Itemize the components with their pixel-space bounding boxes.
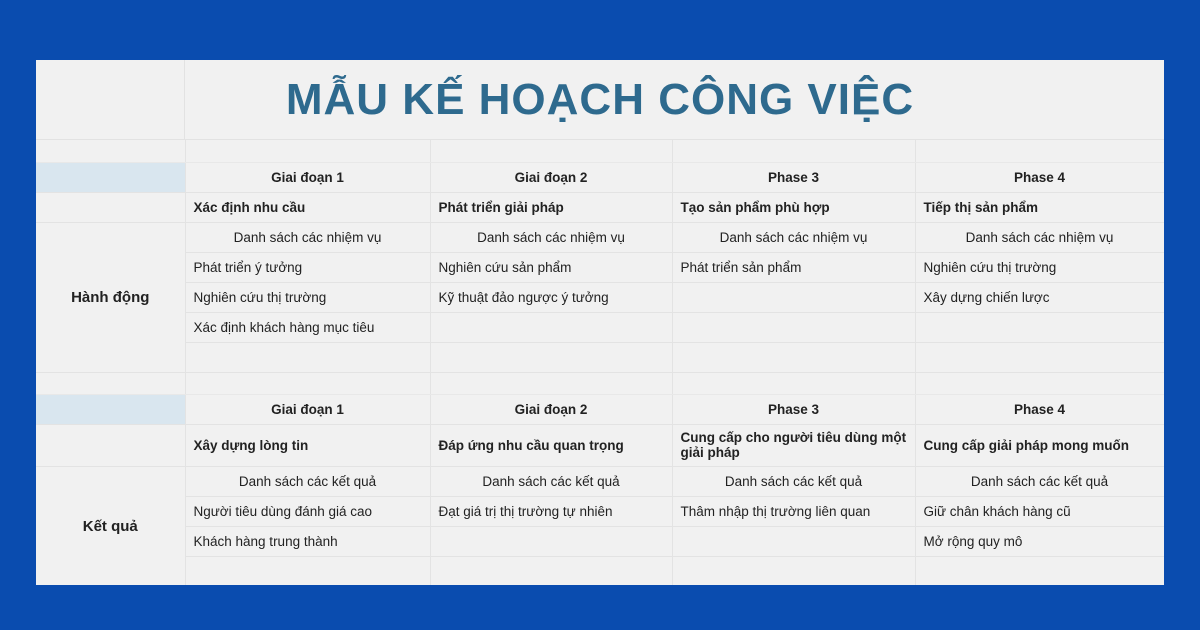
phase-header-corner: [36, 394, 185, 424]
task-cell[interactable]: Kỹ thuật đảo ngược ý tưởng: [430, 282, 672, 312]
phase-header-1: Giai đoạn 1: [185, 394, 430, 424]
task-cell[interactable]: Nghiên cứu thị trường: [915, 252, 1164, 282]
result-cell[interactable]: Giữ chân khách hàng cũ: [915, 496, 1164, 526]
list-header-3: Danh sách các nhiệm vụ: [672, 222, 915, 252]
result-cell[interactable]: [672, 526, 915, 556]
phase-header-1: Giai đoạn 1: [185, 162, 430, 192]
table-row: Phát triển ý tưởng Nghiên cứu sản phẩm P…: [36, 252, 1164, 282]
table-row: Khách hàng trung thành Mở rộng quy mô: [36, 526, 1164, 556]
list-header-2: Danh sách các kết quả: [430, 466, 672, 496]
result-cell[interactable]: Người tiêu dùng đánh giá cao: [185, 496, 430, 526]
spacer-cell: [430, 372, 672, 394]
phase-goal-1: Xây dựng lòng tin: [185, 424, 430, 466]
list-header-3: Danh sách các kết quả: [672, 466, 915, 496]
section-gap-row: [36, 372, 1164, 394]
task-cell[interactable]: [672, 282, 915, 312]
phase-header-corner: [36, 162, 185, 192]
list-header-4: Danh sách các nhiệm vụ: [915, 222, 1164, 252]
phase-header-3: Phase 3: [672, 162, 915, 192]
list-header-4: Danh sách các kết quả: [915, 466, 1164, 496]
task-cell[interactable]: Phát triển ý tưởng: [185, 252, 430, 282]
phase-header-row: Giai đoạn 1 Giai đoạn 2 Phase 3 Phase 4: [36, 394, 1164, 424]
table-row: [36, 342, 1164, 372]
result-cell[interactable]: Mở rộng quy mô: [915, 526, 1164, 556]
result-cell[interactable]: Đạt giá trị thị trường tự nhiên: [430, 496, 672, 526]
title-lead-column: [36, 60, 185, 140]
phase-goal-2: Đáp ứng nhu cầu quan trọng: [430, 424, 672, 466]
phase-goal-row: Xác định nhu cầu Phát triển giải pháp Tạ…: [36, 192, 1164, 222]
task-cell[interactable]: Nghiên cứu thị trường: [185, 282, 430, 312]
phase-header-4: Phase 4: [915, 162, 1164, 192]
spacer-cell: [915, 372, 1164, 394]
result-cell[interactable]: [430, 526, 672, 556]
poster-canvas: MẪU KẾ HOẠCH CÔNG VIỆC Giai đoạn 1 Giai …: [0, 0, 1200, 630]
list-header-2: Danh sách các nhiệm vụ: [430, 222, 672, 252]
phase-header-4: Phase 4: [915, 394, 1164, 424]
result-cell[interactable]: [672, 556, 915, 585]
task-cell[interactable]: [672, 342, 915, 372]
spacer-row: [36, 140, 1164, 162]
phase-header-2: Giai đoạn 2: [430, 394, 672, 424]
phase-goal-corner: [36, 192, 185, 222]
task-cell[interactable]: [430, 342, 672, 372]
list-header-1: Danh sách các kết quả: [185, 466, 430, 496]
spacer-cell: [430, 140, 672, 162]
phase-header-2: Giai đoạn 2: [430, 162, 672, 192]
table-row: [36, 556, 1164, 585]
phase-goal-4: Tiếp thị sản phẩm: [915, 192, 1164, 222]
result-cell[interactable]: [430, 556, 672, 585]
spacer-cell: [36, 140, 185, 162]
spacer-cell: [672, 372, 915, 394]
list-header-row: Hành động Danh sách các nhiệm vụ Danh sá…: [36, 222, 1164, 252]
spacer-cell: [185, 372, 430, 394]
table-row: Nghiên cứu thị trường Kỹ thuật đảo ngược…: [36, 282, 1164, 312]
spreadsheet-sheet: MẪU KẾ HOẠCH CÔNG VIỆC Giai đoạn 1 Giai …: [36, 60, 1164, 585]
task-cell[interactable]: Xây dựng chiến lược: [915, 282, 1164, 312]
result-cell[interactable]: [185, 556, 430, 585]
table-row: Xác định khách hàng mục tiêu: [36, 312, 1164, 342]
title-band: MẪU KẾ HOẠCH CÔNG VIỆC: [36, 60, 1164, 140]
result-cell[interactable]: Khách hàng trung thành: [185, 526, 430, 556]
task-cell[interactable]: [185, 342, 430, 372]
list-header-1: Danh sách các nhiệm vụ: [185, 222, 430, 252]
task-cell[interactable]: [915, 342, 1164, 372]
section-label-result: Kết quả: [36, 466, 185, 585]
table-row: Người tiêu dùng đánh giá cao Đạt giá trị…: [36, 496, 1164, 526]
list-header-row: Kết quả Danh sách các kết quả Danh sách …: [36, 466, 1164, 496]
phase-goal-row: Xây dựng lòng tin Đáp ứng nhu cầu quan t…: [36, 424, 1164, 466]
task-cell[interactable]: Nghiên cứu sản phẩm: [430, 252, 672, 282]
task-cell[interactable]: [672, 312, 915, 342]
phase-goal-1: Xác định nhu cầu: [185, 192, 430, 222]
result-cell[interactable]: Thâm nhập thị trường liên quan: [672, 496, 915, 526]
section-label-action: Hành động: [36, 222, 185, 372]
phase-goal-3: Cung cấp cho người tiêu dùng một giải ph…: [672, 424, 915, 466]
spacer-cell: [185, 140, 430, 162]
task-cell[interactable]: [915, 312, 1164, 342]
phase-goal-2: Phát triển giải pháp: [430, 192, 672, 222]
task-cell[interactable]: [430, 312, 672, 342]
spacer-cell: [672, 140, 915, 162]
task-cell[interactable]: Phát triển sản phẩm: [672, 252, 915, 282]
spacer-cell: [36, 372, 185, 394]
section-action-table: Giai đoạn 1 Giai đoạn 2 Phase 3 Phase 4 …: [36, 140, 1164, 585]
spacer-cell: [915, 140, 1164, 162]
phase-goal-4: Cung cấp giải pháp mong muốn: [915, 424, 1164, 466]
task-cell[interactable]: Xác định khách hàng mục tiêu: [185, 312, 430, 342]
result-cell[interactable]: [915, 556, 1164, 585]
phase-header-row: Giai đoạn 1 Giai đoạn 2 Phase 3 Phase 4: [36, 162, 1164, 192]
page-title: MẪU KẾ HOẠCH CÔNG VIỆC: [286, 78, 914, 122]
phase-goal-corner: [36, 424, 185, 466]
phase-header-3: Phase 3: [672, 394, 915, 424]
phase-goal-3: Tạo sản phẩm phù hợp: [672, 192, 915, 222]
